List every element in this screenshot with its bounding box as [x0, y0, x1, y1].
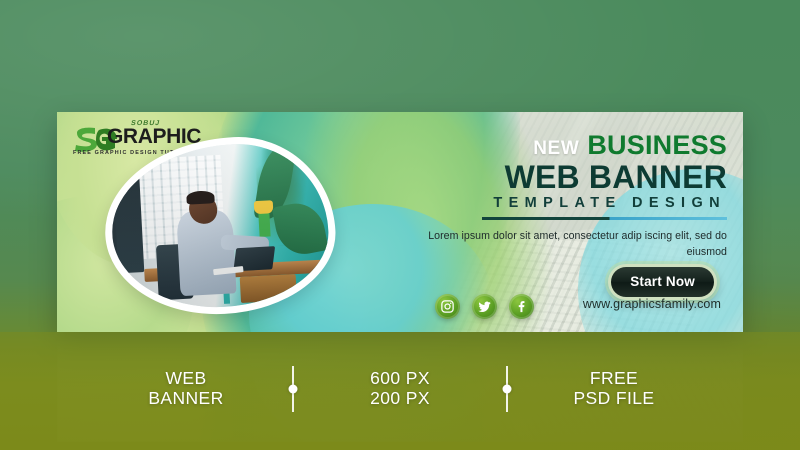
social-links [435, 294, 534, 319]
person-photo-frame [101, 132, 340, 320]
headline-new: NEW [533, 138, 579, 159]
facebook-icon[interactable] [509, 294, 534, 319]
headline-row-one: NEWBUSINESS [417, 132, 727, 159]
cta-container: Start Now [608, 264, 717, 300]
headline-main: WEB BANNER [417, 161, 727, 194]
photo-shading [108, 139, 332, 312]
caption-type-line1: WEB [126, 369, 246, 389]
caption-file-line2: PSD FILE [554, 389, 674, 409]
banner-card: SOBUJ GRAPHIC FREE GRAPHIC DESIGN TUTORI… [57, 112, 743, 332]
businessman-at-desk-photo [108, 139, 332, 312]
instagram-icon[interactable] [435, 294, 460, 319]
headline-underline [482, 217, 727, 220]
caption-type-line2: BANNER [126, 389, 246, 409]
caption-divider-two [506, 366, 508, 412]
specs-caption-bar: WEB BANNER 600 PX 200 PX FREE PSD FILE [0, 360, 800, 418]
caption-item-type: WEB BANNER [126, 369, 246, 408]
caption-size-height: 200 PX [340, 389, 460, 409]
caption-divider-one [292, 366, 294, 412]
caption-item-file: FREE PSD FILE [554, 369, 674, 408]
logo-wordmark: GRAPHIC [107, 126, 201, 147]
headline-business: BUSINESS [587, 130, 727, 160]
start-now-button[interactable]: Start Now [608, 264, 717, 300]
headline-subtitle: TEMPLATE DESIGN [417, 195, 727, 211]
website-url[interactable]: www.graphicsfamily.com [583, 297, 721, 311]
banner-copy-block: NEWBUSINESS WEB BANNER TEMPLATE DESIGN L… [417, 132, 727, 260]
banner-body-text: Lorem ipsum dolor sit amet, consectetur … [417, 229, 727, 260]
caption-item-size: 600 PX 200 PX [340, 369, 460, 408]
caption-file-line1: FREE [554, 369, 674, 389]
twitter-icon[interactable] [472, 294, 497, 319]
caption-size-width: 600 PX [340, 369, 460, 389]
